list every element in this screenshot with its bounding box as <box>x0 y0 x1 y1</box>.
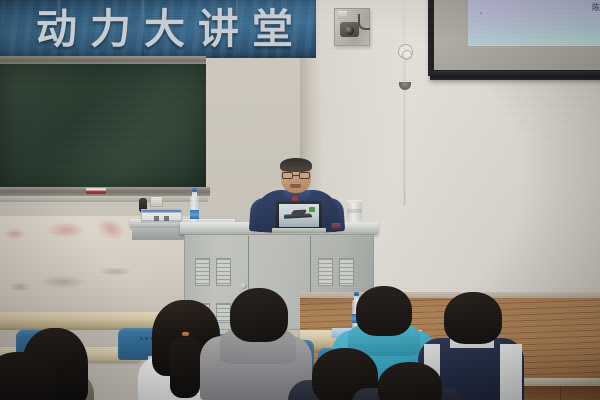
projected-slide: 能源与动力 陈 <box>468 0 600 46</box>
computer-mouse[interactable] <box>331 223 341 229</box>
bottle-cap <box>354 292 359 296</box>
student-shirt-sleeve <box>500 344 522 400</box>
hanging-cord <box>404 0 405 205</box>
student-head <box>230 288 288 342</box>
chalkboard-sheen <box>0 64 206 189</box>
glasses-icon <box>282 172 310 179</box>
student-head <box>444 292 502 344</box>
banner-text: 动力大讲堂 <box>0 0 312 50</box>
wall-smudge <box>4 228 26 240</box>
podium-louver <box>216 258 231 286</box>
placard-characters <box>142 214 181 222</box>
screen-frame-bottom <box>430 71 600 80</box>
cord-ring <box>402 50 412 60</box>
paper-cup <box>347 202 362 222</box>
green-chalkboard <box>0 64 206 189</box>
camera-wire <box>358 14 370 30</box>
aircraft-image <box>284 213 312 218</box>
speaker-mouth <box>290 184 301 188</box>
chalkboard-eraser <box>86 188 106 194</box>
projection-screen: 能源与动力 陈 <box>430 0 600 80</box>
lecture-hall-photo: 动力大讲堂 能源与动力 陈 <box>0 0 600 400</box>
camera-lens-icon <box>345 26 354 35</box>
student-head <box>356 286 412 336</box>
slide-accent-block <box>309 207 315 212</box>
screen-surface: 能源与动力 陈 <box>434 0 600 70</box>
podium-door-lock[interactable] <box>241 283 247 289</box>
podium-louver <box>195 258 210 286</box>
slide-speck <box>480 12 482 14</box>
wall-smudge <box>46 222 86 238</box>
student-head <box>378 362 442 400</box>
name-placard <box>141 209 182 221</box>
camera-mount-plate <box>338 11 347 19</box>
student-ponytail <box>170 336 200 398</box>
cup-band <box>347 209 362 213</box>
laptop-base <box>272 228 326 233</box>
wall-dirt <box>40 275 86 289</box>
podium-louver <box>339 258 354 286</box>
chalkboard-top-rail <box>0 56 206 64</box>
bottle-cap <box>192 188 197 192</box>
podium-louver <box>318 258 333 286</box>
power-outlet[interactable] <box>150 196 163 207</box>
speaker-hair <box>280 158 312 172</box>
wall-dirt <box>10 282 30 292</box>
slide-subtitle: 陈 <box>592 2 600 13</box>
podium-louver <box>216 303 231 323</box>
chalkboard-ledge <box>0 196 208 202</box>
laptop-screen <box>279 204 319 227</box>
wall-dirt <box>98 267 132 276</box>
bottle-label <box>190 210 199 219</box>
hair-tie <box>182 332 189 336</box>
